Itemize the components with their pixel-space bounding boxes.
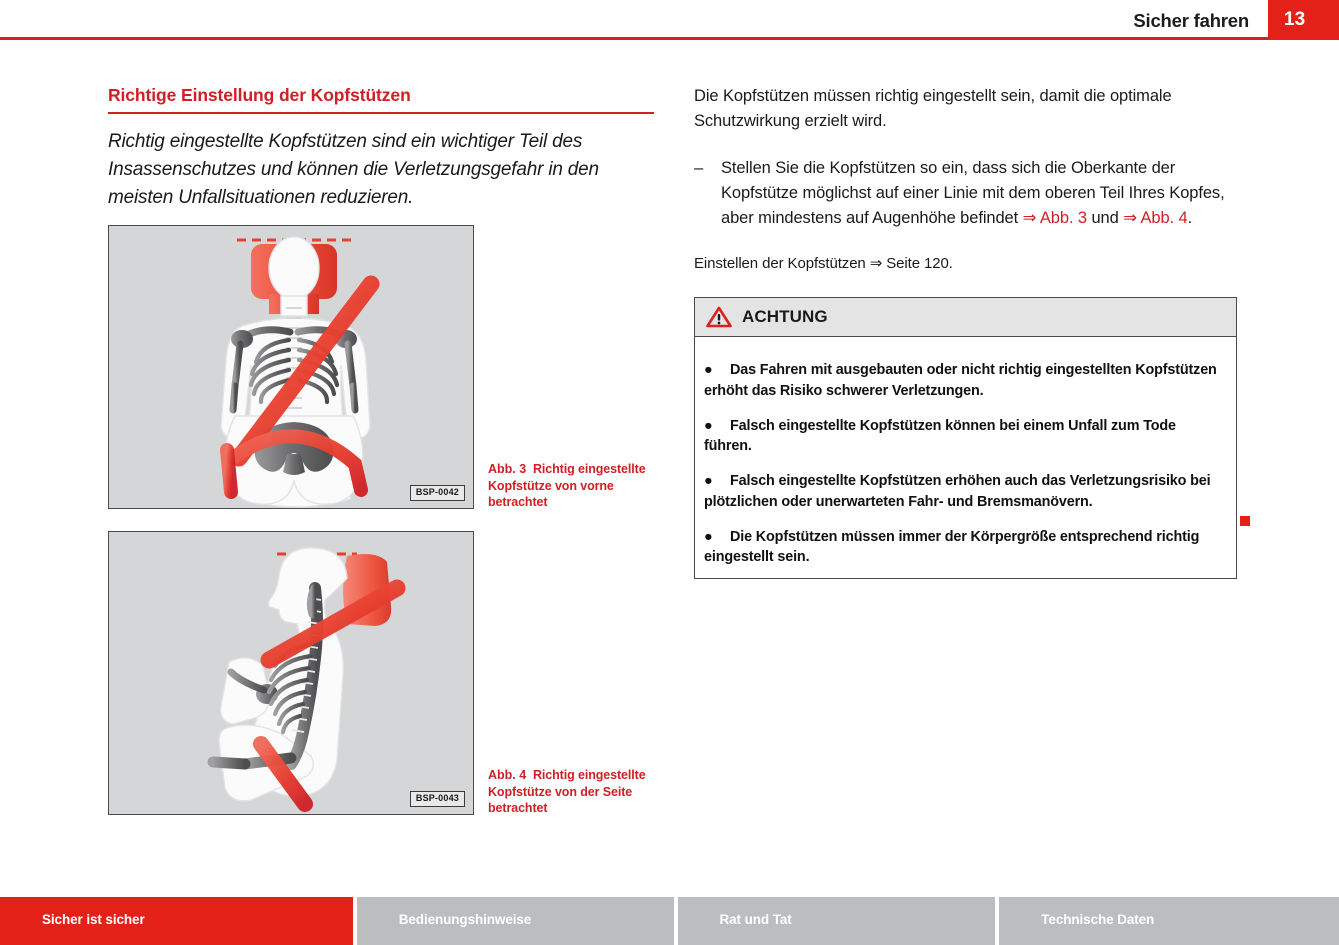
lead-paragraph: Richtig eingestellte Kopfstützen sind ei… bbox=[108, 128, 654, 212]
instruction-item: –Stellen Sie die Kopfstützen so ein, das… bbox=[694, 156, 1240, 231]
footer-tab-label: Sicher ist sicher bbox=[42, 912, 145, 927]
warning-item-text: Falsch eingestellte Kopfstützen erhöhen … bbox=[704, 473, 1211, 510]
warning-box: ACHTUNG ●Das Fahren mit ausgebauten oder… bbox=[694, 297, 1237, 579]
figure-3-image-code: BSP-0042 bbox=[410, 485, 465, 501]
section-end-marker bbox=[1240, 516, 1250, 526]
page-number-badge: 13 bbox=[1268, 0, 1339, 40]
figure-4: BSP-0043 Abb. 4 Richtig eingestellte Kop… bbox=[108, 531, 656, 821]
footer-tab-sicher-ist-sicher[interactable]: Sicher ist sicher bbox=[0, 897, 353, 945]
figure-4-number: Abb. 4 bbox=[488, 768, 526, 782]
warning-item-text: Das Fahren mit ausgebauten oder nicht ri… bbox=[704, 362, 1217, 399]
figure-3: BSP-0042 Abb. 3 Richtig eingestellte Kop… bbox=[108, 225, 656, 515]
warning-item-text: Die Kopfstützen müssen immer der Körperg… bbox=[704, 529, 1199, 566]
warning-title: ACHTUNG bbox=[742, 307, 828, 327]
figure-3-number: Abb. 3 bbox=[488, 462, 526, 476]
page-header: Sicher fahren 13 bbox=[0, 0, 1339, 40]
warning-item: ●Falsch eingestellte Kopfstützen können … bbox=[704, 416, 1227, 457]
warning-item: ●Das Fahren mit ausgebauten oder nicht r… bbox=[704, 360, 1227, 401]
section-heading: Richtige Einstellung der Kopfstützen bbox=[108, 84, 654, 112]
cross-reference-abb-4[interactable]: ⇒ Abb. 4 bbox=[1123, 209, 1187, 227]
instruction-period: . bbox=[1188, 209, 1192, 227]
page-number: 13 bbox=[1284, 9, 1305, 31]
footer-tab-label: Technische Daten bbox=[1041, 912, 1154, 927]
section-heading-rule bbox=[108, 112, 654, 114]
footer-tab-label: Rat und Tat bbox=[720, 912, 792, 927]
intro-paragraph: Die Kopfstützen müssen richtig eingestel… bbox=[694, 84, 1240, 134]
footer-nav: Sicher ist sicher Bedienungshinweise Rat… bbox=[0, 897, 1339, 945]
figure-4-image-code: BSP-0043 bbox=[410, 791, 465, 807]
figure-3-image: BSP-0042 bbox=[108, 225, 474, 509]
bullet-icon: ● bbox=[704, 416, 730, 437]
left-column: Richtige Einstellung der Kopfstützen Ric… bbox=[108, 84, 654, 212]
bullet-icon: ● bbox=[704, 471, 730, 492]
bullet-icon: ● bbox=[704, 360, 730, 381]
page-title: Sicher fahren bbox=[1133, 10, 1249, 32]
warning-body: ●Das Fahren mit ausgebauten oder nicht r… bbox=[695, 337, 1236, 578]
dash-marker: – bbox=[694, 156, 703, 181]
footer-tab-bedienungshinweise[interactable]: Bedienungshinweise bbox=[357, 897, 674, 945]
cross-reference-abb-3[interactable]: ⇒ Abb. 3 bbox=[1023, 209, 1087, 227]
warning-item: ●Falsch eingestellte Kopfstützen erhöhen… bbox=[704, 471, 1227, 512]
header-divider bbox=[0, 37, 1268, 40]
figure-4-image: BSP-0043 bbox=[108, 531, 474, 815]
instruction-conjunction: und bbox=[1087, 209, 1123, 227]
footer-tab-rat-und-tat[interactable]: Rat und Tat bbox=[678, 897, 996, 945]
bullet-icon: ● bbox=[704, 527, 730, 548]
warning-item: ●Die Kopfstützen müssen immer der Körper… bbox=[704, 527, 1227, 568]
warning-item-text: Falsch eingestellte Kopfstützen können b… bbox=[704, 418, 1176, 455]
warning-header: ACHTUNG bbox=[695, 298, 1236, 337]
figure-4-caption: Abb. 4 Richtig eingestellte Kopfstütze v… bbox=[488, 767, 656, 817]
footer-tab-technische-daten[interactable]: Technische Daten bbox=[999, 897, 1339, 945]
figure-3-caption: Abb. 3 Richtig eingestellte Kopfstütze v… bbox=[488, 461, 656, 511]
right-column: Die Kopfstützen müssen richtig eingestel… bbox=[694, 84, 1240, 579]
footer-tab-label: Bedienungshinweise bbox=[399, 912, 531, 927]
warning-triangle-icon bbox=[706, 306, 732, 328]
see-page-note: Einstellen der Kopfstützen ⇒ Seite 120. bbox=[694, 253, 1240, 275]
